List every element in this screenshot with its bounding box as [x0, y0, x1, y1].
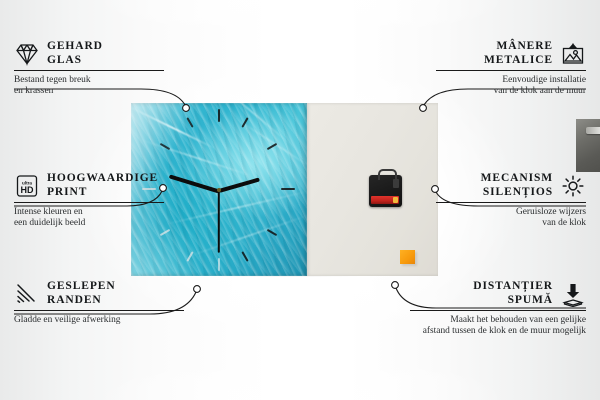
framed-picture-icon — [560, 41, 586, 67]
ultra-hd-badge-icon: ultra HD — [14, 173, 40, 199]
divider — [14, 70, 164, 71]
feature-title: HOOGWAARDIGE PRINT — [47, 172, 158, 199]
divider — [436, 202, 586, 203]
feature-subtitle: Geruisloze wijzers van de klok — [436, 207, 586, 230]
divider — [410, 310, 586, 311]
feature-subtitle: Bestand tegen breuk en krassen — [14, 75, 164, 98]
feature-title: DISTANȚIER SPUMĂ — [473, 280, 553, 307]
diagonal-lines-icon — [14, 281, 40, 307]
clock-back-panel — [307, 103, 438, 276]
foam-spacer — [400, 250, 415, 264]
feature-tempered-glass: GEHARD GLAS Bestand tegen breuk en krass… — [14, 40, 164, 98]
metal-handle-strip — [586, 127, 600, 134]
diamond-icon — [14, 41, 40, 67]
feature-title: MÂNERE METALICE — [484, 40, 553, 67]
mechanism-knob — [393, 179, 399, 188]
feature-subtitle: Eenvoudige installatie van de klok aan d… — [436, 75, 586, 98]
clock-minute-hand — [169, 174, 220, 193]
feature-foam-spacer: DISTANȚIER SPUMĂ Maakt het behouden van … — [410, 280, 586, 338]
clock-second-hand — [218, 191, 220, 253]
gear-icon — [560, 173, 586, 199]
feature-title: MECANISM SILENȚIOS — [481, 172, 553, 199]
feature-high-quality-print: ultra HD HOOGWAARDIGE PRINT Intense kleu… — [14, 172, 164, 230]
divider — [436, 70, 586, 71]
infographic-canvas: GEHARD GLAS Bestand tegen breuk en krass… — [0, 0, 600, 400]
clock-hour-hand — [218, 178, 259, 193]
feature-title: GESLEPEN RANDEN — [47, 280, 116, 307]
feature-title: GEHARD GLAS — [47, 40, 103, 67]
feature-silent-mechanism: MECANISM SILENȚIOS Geruisloze wijzers va… — [436, 172, 586, 230]
feature-subtitle: Maakt het behouden van een gelijke afsta… — [410, 315, 586, 338]
svg-text:HD: HD — [21, 185, 34, 195]
divider — [14, 310, 184, 311]
feature-subtitle: Intense kleuren en een duidelijk beeld — [14, 207, 164, 230]
clock-mechanism — [369, 175, 402, 207]
feature-metal-handles: MÂNERE METALICE Eenvoudige installatie v… — [436, 40, 586, 98]
metal-handle-plate — [576, 119, 600, 172]
product-photo — [131, 103, 438, 276]
battery — [371, 196, 399, 204]
feature-subtitle: Gladde en veilige afwerking — [14, 315, 184, 326]
divider — [14, 202, 164, 203]
feature-ground-edges: GESLEPEN RANDEN Gladde en veilige afwerk… — [14, 280, 184, 326]
down-arrow-plate-icon — [560, 281, 586, 307]
